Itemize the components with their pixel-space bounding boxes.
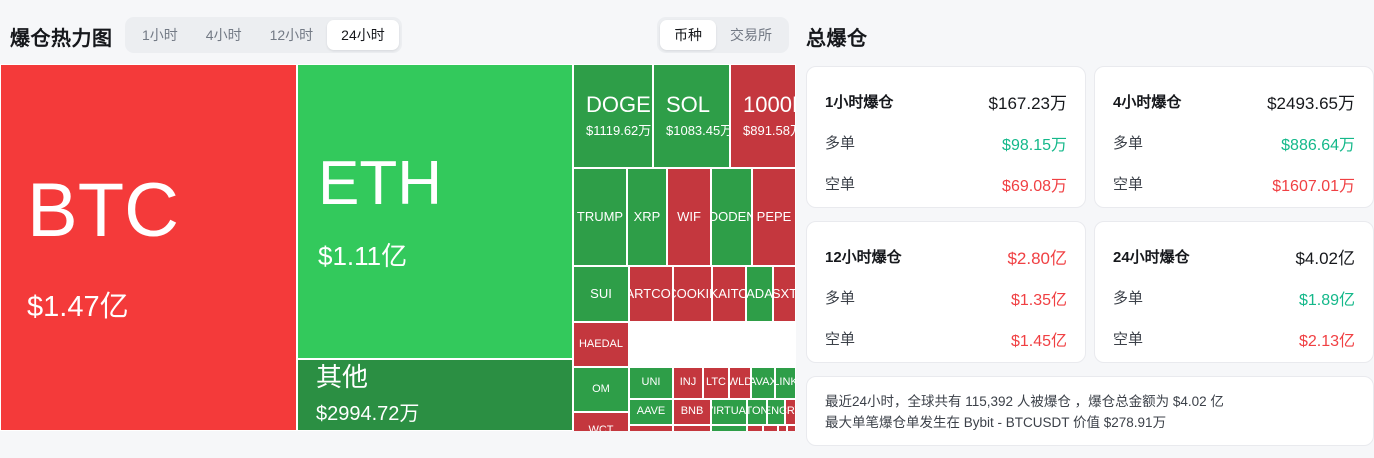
card-total: $4.02亿 (1295, 244, 1355, 269)
treemap-tile-symbol: TON (747, 406, 767, 418)
card-long-value: $1.89亿 (1299, 286, 1355, 310)
card-short-label: 空单 (1113, 328, 1143, 349)
stat-card-1h: 1小时爆仓$167.23万多单$98.15万空单$69.08万 (806, 66, 1086, 208)
summary-card: 最近24小时，全球共有 115,392 人被爆仓 ，爆仓总金额为 $4.02 亿… (806, 376, 1374, 446)
mode-tab-1[interactable]: 交易所 (716, 20, 786, 50)
card-row: 24小时爆仓$4.02亿 (1113, 236, 1355, 277)
treemap-tile-1000pepe[interactable]: 1000PEPE$891.58万 (730, 64, 796, 168)
page-title-total: 总爆仓 (806, 22, 868, 51)
treemap-tile-symbol: WIF (677, 210, 701, 224)
treemap-tile-sol[interactable]: SOL$1083.45万 (653, 64, 730, 168)
treemap-tile-symbol: FARTCOIN (629, 287, 673, 301)
card-long-value: $886.64万 (1281, 131, 1355, 155)
treemap-tile-eth[interactable]: ETH$1.11亿 (297, 64, 573, 359)
treemap-tile-c[interactable]: C (747, 425, 763, 431)
treemap-tile-aave[interactable]: AAVE (629, 399, 673, 425)
treemap-tile-value: $2994.72万 (316, 403, 419, 426)
treemap-tile-sxt[interactable]: SXT (773, 266, 796, 322)
card-long-label: 多单 (1113, 287, 1143, 308)
treemap-tile-ada[interactable]: ADA (746, 266, 773, 322)
treemap-tile-symbol: SXT (773, 287, 796, 301)
card-short-value: $1607.01万 (1272, 172, 1355, 196)
treemap-tile-symbol: AAVE (637, 406, 666, 418)
treemap-tile-symbol: LINK (775, 377, 796, 389)
card-long-label: 多单 (825, 132, 855, 153)
card-row: 空单$69.08万 (825, 163, 1067, 204)
treemap-tile-value: $1.47亿 (27, 291, 270, 324)
treemap-tile-m[interactable]: M (787, 425, 796, 431)
card-title: 4小时爆仓 (1113, 91, 1181, 112)
treemap-tile-value: $1.11亿 (318, 242, 552, 272)
card-short-value: $2.13亿 (1299, 327, 1355, 351)
range-tab-2[interactable]: 12小时 (256, 20, 328, 50)
treemap-tile-symbol: OM (592, 384, 610, 396)
treemap-tile-o[interactable]: O (778, 425, 787, 431)
treemap-tile-doge[interactable]: DOGE$1119.62万 (573, 64, 653, 168)
treemap-tile-om[interactable]: OM (573, 367, 629, 412)
treemap-tile-symbol: AVAX (751, 377, 775, 389)
treemap-tile-crv[interactable]: CRV (785, 399, 796, 425)
treemap-tile-symbol: VIRTUAL (711, 406, 747, 418)
treemap-tile-t[interactable]: T (763, 425, 778, 431)
treemap-tile-symbol: INJ (680, 377, 697, 389)
treemap-tile-ltc[interactable]: LTC (703, 367, 729, 399)
treemap-tile-symbol: TRUMP (577, 210, 623, 224)
treemap-tile-symbol: DOGE (586, 93, 651, 116)
treemap-tile-avax[interactable]: AVAX (751, 367, 775, 399)
card-row: 多单$1.35亿 (825, 277, 1067, 318)
card-short-label: 空单 (825, 173, 855, 194)
card-row: 多单$886.64万 (1113, 122, 1355, 163)
range-tab-0[interactable]: 1小时 (128, 20, 192, 50)
card-short-value: $1.45亿 (1011, 327, 1067, 351)
liquidation-heatmap-page: 爆仓热力图 1小时4小时12小时24小时 币种交易所 总爆仓 BTC$1.47亿… (0, 0, 1374, 458)
treemap-tile-cookie[interactable]: COOKIE (673, 266, 712, 322)
mode-tab-0[interactable]: 币种 (660, 20, 716, 50)
card-row: 空单$2.13亿 (1113, 318, 1355, 359)
card-row: 4小时爆仓$2493.65万 (1113, 81, 1355, 122)
treemap-tile-sui[interactable]: SUI (573, 266, 629, 322)
card-long-value: $98.15万 (1002, 131, 1067, 155)
range-tab-3[interactable]: 24小时 (327, 20, 399, 50)
treemap-tile-trump[interactable]: TRUMP (573, 168, 627, 266)
treemap-tile-value: $1083.45万 (666, 124, 730, 139)
card-row: 空单$1.45亿 (825, 318, 1067, 359)
treemap-tile-symbol: CRV (785, 406, 796, 418)
treemap-tile-symbol: PENGU (767, 406, 785, 418)
page-title-heatmap: 爆仓热力图 (10, 22, 113, 51)
treemap-tile-moodeng[interactable]: MOODENG (711, 168, 752, 266)
card-row: 12小时爆仓$2.80亿 (825, 236, 1067, 277)
treemap-tile-wld[interactable]: WLD (729, 367, 751, 399)
card-title: 12小时爆仓 (825, 246, 902, 267)
card-row: 多单$1.89亿 (1113, 277, 1355, 318)
card-short-label: 空单 (1113, 173, 1143, 194)
treemap-tile-symbol: WLD (729, 377, 751, 389)
treemap-tile-symbol: BNB (681, 406, 704, 418)
treemap-tile-pengu[interactable]: PENGU (767, 399, 785, 425)
treemap-tile-bnb[interactable]: BNB (673, 399, 711, 425)
treemap-tile-symbol: WCT (588, 425, 613, 431)
treemap-tile-symbol: SOL (666, 93, 710, 116)
treemap-tile-op[interactable]: OP (711, 425, 747, 431)
card-long-label: 多单 (825, 287, 855, 308)
card-long-label: 多单 (1113, 132, 1143, 153)
treemap-tile-symbol: BTC (27, 171, 270, 251)
treemap-tile-kaito[interactable]: KAITO (712, 266, 746, 322)
treemap-tile-inj[interactable]: INJ (673, 367, 703, 399)
card-row: 1小时爆仓$167.23万 (825, 81, 1067, 122)
stat-card-12h: 12小时爆仓$2.80亿多单$1.35亿空单$1.45亿 (806, 221, 1086, 363)
treemap-tile-wif[interactable]: WIF (667, 168, 711, 266)
card-short-value: $69.08万 (1002, 172, 1067, 196)
treemap-tile-ton[interactable]: TON (747, 399, 767, 425)
treemap-tile-symbol: 1000PEPE (743, 93, 796, 116)
treemap-tile-symbol: ETH (318, 151, 552, 216)
stat-card-4h: 4小时爆仓$2493.65万多单$886.64万空单$1607.01万 (1094, 66, 1374, 208)
treemap-tile-symbol: SUI (590, 287, 612, 301)
treemap-tile-link[interactable]: LINK (775, 367, 796, 399)
card-short-label: 空单 (825, 328, 855, 349)
liquidation-treemap[interactable]: BTC$1.47亿ETH$1.11亿其他$2994.72万DOGE$1119.6… (0, 64, 796, 431)
treemap-tile-symbol: KAITO (712, 287, 746, 301)
treemap-tile-其他[interactable]: 其他$2994.72万 (297, 359, 573, 431)
treemap-tile-pepe[interactable]: PEPE (752, 168, 796, 266)
treemap-tile-uni[interactable]: UNI (629, 367, 673, 399)
treemap-tile-btc[interactable]: BTC$1.47亿 (0, 64, 297, 431)
treemap-tile-haedal[interactable]: HAEDAL (573, 322, 629, 367)
treemap-tile-symbol: PEPE (757, 210, 792, 224)
treemap-tile-symbol: UNI (642, 377, 661, 389)
card-row: 空单$1607.01万 (1113, 163, 1355, 204)
card-long-value: $1.35亿 (1011, 286, 1067, 310)
mode-segmented-control[interactable]: 币种交易所 (657, 17, 789, 53)
card-total: $2493.65万 (1267, 89, 1355, 114)
summary-line-1: 最近24小时，全球共有 115,392 人被爆仓 ，爆仓总金额为 $4.02 亿 (825, 391, 1355, 412)
card-total: $2.80亿 (1007, 244, 1067, 269)
treemap-tile-symbol: LTC (706, 377, 726, 389)
card-title: 24小时爆仓 (1113, 246, 1190, 267)
time-range-segmented-control[interactable]: 1小时4小时12小时24小时 (125, 17, 402, 53)
treemap-tile-symbol: COOKIE (673, 287, 712, 301)
summary-line-2: 最大单笔爆仓单发生在 Bybit - BTCUSDT 价值 $278.91万 (825, 412, 1355, 433)
treemap-tile-wct[interactable]: WCT (573, 412, 629, 431)
card-title: 1小时爆仓 (825, 91, 893, 112)
treemap-tile-near[interactable]: NEAR (673, 425, 711, 431)
treemap-tile-symbol: XRP (634, 210, 661, 224)
treemap-tile-symbol: MOODENG (711, 210, 752, 224)
treemap-tile-fartcoin[interactable]: FARTCOIN (629, 266, 673, 322)
range-tab-1[interactable]: 4小时 (192, 20, 256, 50)
stat-card-24h: 24小时爆仓$4.02亿多单$1.89亿空单$2.13亿 (1094, 221, 1374, 363)
treemap-tile-xrp[interactable]: XRP (627, 168, 667, 266)
treemap-tile-value: $1119.62万 (586, 124, 651, 139)
card-row: 多单$98.15万 (825, 122, 1067, 163)
treemap-tile-symbol: ADA (746, 287, 773, 301)
card-total: $167.23万 (989, 89, 1067, 114)
treemap-tile-virtual[interactable]: VIRTUAL (711, 399, 747, 425)
treemap-tile-symbol: 其他 (316, 364, 368, 391)
treemap-tile-symbol: HAEDAL (579, 339, 623, 351)
treemap-tile-value: $891.58万 (743, 124, 796, 139)
treemap-tile-nxpc[interactable]: NXPC (629, 425, 673, 431)
